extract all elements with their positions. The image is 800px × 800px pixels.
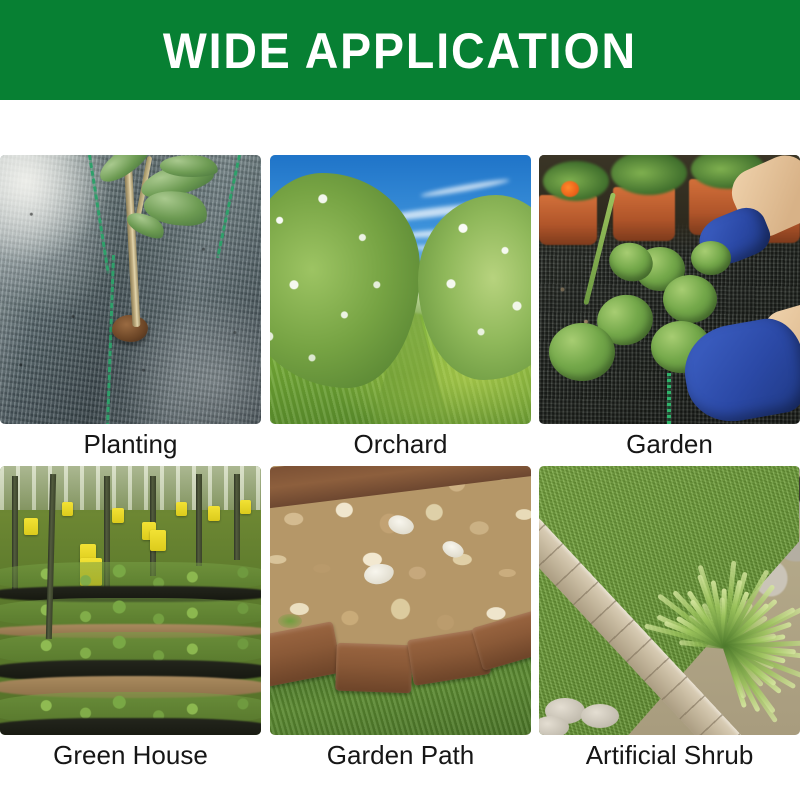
caption-garden-path: Garden Path [270, 738, 531, 772]
gallery-cell-planting[interactable]: Planting [0, 155, 261, 466]
gallery-row-1: Planting [0, 155, 800, 466]
yellow-sticky-trap [176, 502, 187, 516]
small-weed [278, 614, 302, 628]
yellow-sticky-trap [24, 518, 38, 535]
wide-application-page: WIDE APPLICATION [0, 0, 800, 800]
application-gallery: Planting [0, 155, 800, 777]
gallery-cell-green-house[interactable]: Green House [0, 466, 261, 777]
yellow-sticky-trap [112, 508, 124, 523]
artificial-shrub-photo [539, 466, 800, 735]
green-house-photo [0, 466, 261, 735]
geranium-leaf [549, 323, 615, 381]
support-pole [234, 474, 240, 560]
greenhouse-roof [0, 466, 261, 510]
caption-green-house: Green House [0, 738, 261, 772]
yellow-sticky-trap [62, 502, 73, 516]
plant-root-ball [112, 315, 148, 342]
yellow-sticky-trap [240, 500, 251, 514]
page-title: WIDE APPLICATION [163, 26, 637, 76]
planting-photo [0, 155, 261, 424]
garden-path-photo [270, 466, 531, 735]
border-pebble [539, 716, 569, 735]
edging-paver [335, 643, 413, 694]
caption-artificial-shrub: Artificial Shrub [539, 738, 800, 772]
support-pole [196, 474, 202, 566]
gallery-cell-orchard[interactable]: Orchard [270, 155, 531, 466]
fabric-green-stripe [667, 373, 671, 424]
orchard-photo [270, 155, 531, 424]
header-banner: WIDE APPLICATION [0, 0, 800, 100]
gallery-cell-garden[interactable]: Garden [539, 155, 800, 466]
yellow-sticky-trap [208, 506, 220, 521]
garden-photo [539, 155, 800, 424]
spiky-shrub [647, 560, 800, 735]
gallery-row-2: Green House Garden P [0, 466, 800, 777]
gallery-cell-artificial-shrub[interactable]: Artificial Shrub [539, 466, 800, 777]
yellow-sticky-trap [150, 530, 166, 551]
black-mulch-film [0, 718, 261, 735]
geranium-leaf [691, 241, 731, 275]
geranium-leaf [663, 275, 717, 323]
caption-garden: Garden [539, 427, 800, 461]
caption-orchard: Orchard [270, 427, 531, 461]
caption-planting: Planting [0, 427, 261, 461]
border-pebble [581, 704, 619, 728]
gallery-cell-garden-path[interactable]: Garden Path [270, 466, 531, 777]
